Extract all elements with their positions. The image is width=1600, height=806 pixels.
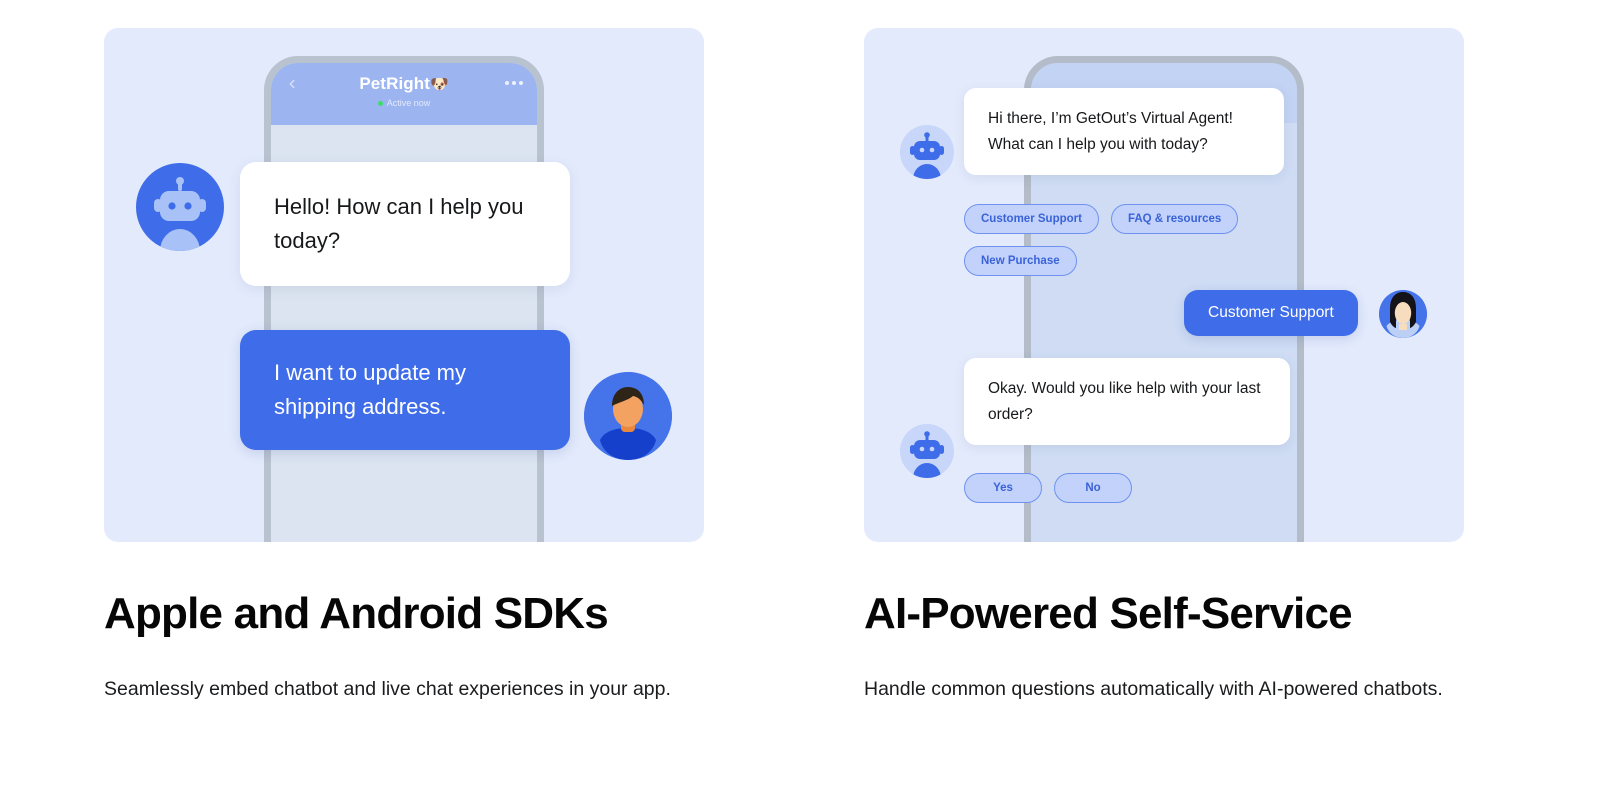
feature-description: Handle common questions automatically wi… [864, 670, 1464, 708]
chat-title: PetRight [359, 74, 430, 93]
robot-avatar-circle [900, 125, 954, 179]
chat-header-titleblock: PetRight🐶 Active now [359, 75, 448, 108]
chat-bubble-incoming: Hello! How can I help you today? [240, 162, 570, 286]
quick-reply-row: New Purchase [964, 246, 1077, 276]
chevron-left-icon[interactable] [285, 77, 299, 91]
online-dot-icon [378, 101, 383, 106]
feature-card-self-service: Hi there, I’m GetOut’s Virtual Agent! Wh… [864, 28, 1464, 708]
robot-avatar-circle [900, 424, 954, 478]
chat-status-label: Active now [387, 99, 431, 108]
chat-status: Active now [359, 99, 448, 108]
feature-title: AI-Powered Self-Service [864, 590, 1464, 638]
quick-reply-new-purchase[interactable]: New Purchase [964, 246, 1077, 276]
chat-bubble-incoming: Hi there, I’m GetOut’s Virtual Agent! Wh… [964, 88, 1284, 175]
feature-title: Apple and Android SDKs [104, 590, 704, 638]
feature-card-sdks: PetRight🐶 Active now [104, 28, 704, 708]
chat-bubble-outgoing: I want to update my shipping address. [240, 330, 570, 450]
quick-reply-yes[interactable]: Yes [964, 473, 1042, 503]
feature-description: Seamlessly embed chatbot and live chat e… [104, 670, 704, 708]
more-horizontal-icon[interactable] [505, 81, 523, 85]
quick-reply-faq-resources[interactable]: FAQ & resources [1111, 204, 1238, 234]
chat-header: PetRight🐶 Active now [271, 63, 537, 125]
robot-avatar-glyph [136, 163, 224, 251]
quick-reply-row: Yes No [964, 473, 1132, 503]
robot-avatar-icon [900, 125, 954, 179]
robot-avatar-glyph [900, 424, 954, 478]
illustration-card-self-service: Hi there, I’m GetOut’s Virtual Agent! Wh… [864, 28, 1464, 542]
illustration-card-sdks: PetRight🐶 Active now [104, 28, 704, 542]
quick-reply-no[interactable]: No [1054, 473, 1132, 503]
phone-mockup: PetRight🐶 Active now [264, 56, 544, 542]
chat-bubble-outgoing: Customer Support [1184, 290, 1358, 336]
person-avatar-glyph [1379, 290, 1427, 338]
feature-section: PetRight🐶 Active now [0, 0, 1600, 806]
chat-bubble-incoming: Okay. Would you like help with your last… [964, 358, 1290, 445]
features-grid: PetRight🐶 Active now [104, 28, 1464, 708]
person-avatar-icon [1379, 290, 1427, 338]
person-avatar-glyph [584, 372, 672, 460]
quick-reply-row: Customer Support FAQ & resources [964, 204, 1238, 234]
quick-reply-customer-support[interactable]: Customer Support [964, 204, 1099, 234]
chat-title-line: PetRight🐶 [359, 75, 448, 93]
person-avatar-icon [584, 372, 672, 460]
robot-avatar-icon [136, 163, 224, 251]
robot-avatar-glyph [900, 125, 954, 179]
robot-avatar-icon [900, 424, 954, 478]
dog-emoji-icon: 🐶 [430, 76, 449, 93]
